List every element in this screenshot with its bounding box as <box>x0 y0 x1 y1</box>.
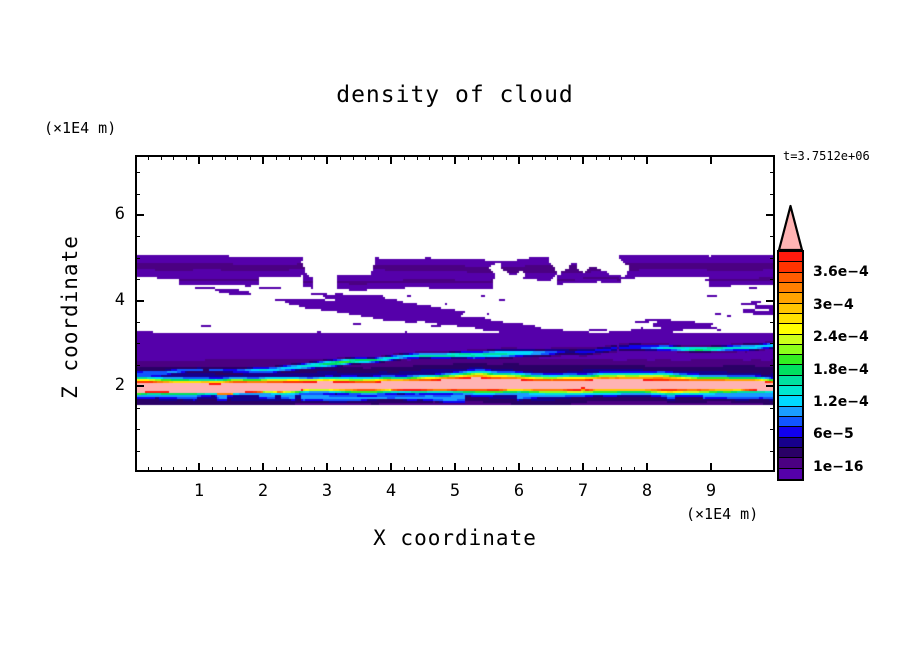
axis-tick <box>225 155 226 160</box>
page-title: density of cloud <box>135 82 775 108</box>
axis-tick <box>289 155 290 160</box>
axis-tick <box>770 365 775 366</box>
colorbar-band <box>779 324 802 334</box>
x-axis-unit-label: (×1E4 m) <box>686 505 758 523</box>
axis-tick <box>262 155 264 164</box>
axis-tick <box>161 155 162 160</box>
axis-tick <box>506 155 507 160</box>
colorbar-band <box>779 469 802 479</box>
axis-tick <box>710 463 712 472</box>
axis-tick <box>545 467 546 472</box>
plot-area <box>135 155 775 472</box>
axis-tick <box>314 467 315 472</box>
axis-tick <box>468 155 469 160</box>
axis-tick <box>135 279 140 280</box>
colorbar-band <box>779 335 802 345</box>
axis-tick <box>173 467 174 472</box>
axis-tick <box>766 300 775 302</box>
axis-tick <box>557 467 558 472</box>
axis-tick <box>770 343 775 344</box>
axis-tick <box>532 155 533 160</box>
x-tick-label: 4 <box>376 481 406 501</box>
axis-tick <box>301 155 302 160</box>
x-tick-label: 6 <box>504 481 534 501</box>
axis-tick <box>390 155 392 164</box>
axis-tick <box>582 463 584 472</box>
axis-tick <box>770 429 775 430</box>
colorbar-band <box>779 273 802 283</box>
axis-tick <box>225 467 226 472</box>
axis-tick <box>340 155 341 160</box>
x-tick-label: 2 <box>248 481 278 501</box>
colorbar-band <box>779 355 802 365</box>
colorbar-band <box>779 252 802 262</box>
colorbar-label: 3.6e−4 <box>813 264 869 280</box>
axis-tick <box>198 463 200 472</box>
y-tick-label: 2 <box>95 375 125 395</box>
colorbar-band <box>779 262 802 272</box>
axis-tick <box>198 155 200 164</box>
colorbar-label: 1.8e−4 <box>813 362 869 378</box>
colorbar-band <box>779 386 802 396</box>
y-axis-unit-label: (×1E4 m) <box>44 119 116 137</box>
x-tick-label: 9 <box>696 481 726 501</box>
colorbar-band <box>779 283 802 293</box>
axis-tick <box>135 451 140 452</box>
axis-tick <box>135 236 140 237</box>
axis-tick <box>532 467 533 472</box>
axis-tick <box>770 258 775 259</box>
axis-tick <box>353 467 354 472</box>
colorbar-band <box>779 448 802 458</box>
colorbar-label: 3e−4 <box>813 297 854 313</box>
colorbar-label: 6e−5 <box>813 426 854 442</box>
axis-tick <box>314 155 315 160</box>
axis-tick <box>545 155 546 160</box>
x-axis-title: X coordinate <box>135 526 775 550</box>
axis-tick <box>135 385 144 387</box>
axis-tick <box>404 467 405 472</box>
axis-tick <box>766 385 775 387</box>
axis-tick <box>301 467 302 472</box>
colorbar-band <box>779 407 802 417</box>
axis-tick <box>468 467 469 472</box>
axis-tick <box>135 322 140 323</box>
axis-tick <box>429 467 430 472</box>
axis-tick <box>442 467 443 472</box>
axis-tick <box>135 343 140 344</box>
axis-tick <box>135 365 140 366</box>
axis-tick <box>596 467 597 472</box>
x-tick-label: 3 <box>312 481 342 501</box>
axis-tick <box>417 155 418 160</box>
axis-tick <box>454 155 456 164</box>
axis-tick <box>770 194 775 195</box>
colorbar-band <box>779 293 802 303</box>
axis-tick <box>646 155 648 164</box>
axis-tick <box>378 155 379 160</box>
y-tick-label: 4 <box>95 290 125 310</box>
axis-tick <box>326 463 328 472</box>
axis-tick <box>429 155 430 160</box>
axis-tick <box>442 155 443 160</box>
axis-tick <box>148 155 149 160</box>
axis-tick <box>161 467 162 472</box>
axis-tick <box>186 467 187 472</box>
axis-tick <box>404 155 405 160</box>
colorbar-label: 1.2e−4 <box>813 394 869 410</box>
axis-tick <box>276 155 277 160</box>
colorbar-band <box>779 438 802 448</box>
colorbar-band <box>779 345 802 355</box>
y-axis-title: Z coordinate <box>58 227 82 407</box>
axis-tick <box>646 463 648 472</box>
colorbar-band <box>779 304 802 314</box>
colorbar-band <box>779 314 802 324</box>
axis-tick <box>493 467 494 472</box>
axis-tick <box>634 467 635 472</box>
axis-tick <box>582 155 584 164</box>
axis-tick <box>365 467 366 472</box>
axis-tick <box>557 155 558 160</box>
colorbar-band <box>779 417 802 427</box>
axis-tick <box>621 467 622 472</box>
colorbar-label: 1e−16 <box>813 459 863 475</box>
axis-tick <box>262 463 264 472</box>
axis-tick <box>237 155 238 160</box>
axis-tick <box>766 214 775 216</box>
colorbar-label: 2.4e−4 <box>813 329 869 345</box>
axis-tick <box>417 467 418 472</box>
axis-tick <box>518 155 520 164</box>
contour-field <box>137 157 773 470</box>
axis-tick <box>365 155 366 160</box>
axis-tick <box>570 155 571 160</box>
axis-tick <box>609 467 610 472</box>
axis-tick <box>237 467 238 472</box>
axis-tick <box>770 408 775 409</box>
axis-tick <box>173 155 174 160</box>
x-tick-label: 8 <box>632 481 662 501</box>
axis-tick <box>634 155 635 160</box>
axis-tick <box>518 463 520 472</box>
axis-tick <box>135 300 144 302</box>
colorbar-band <box>779 365 802 375</box>
axis-tick <box>621 155 622 160</box>
timestamp-annotation: t=3.7512e+06 <box>783 149 870 163</box>
axis-tick <box>250 467 251 472</box>
axis-tick <box>770 322 775 323</box>
axis-tick <box>135 429 140 430</box>
axis-tick <box>378 467 379 472</box>
x-tick-label: 5 <box>440 481 470 501</box>
colorbar-bands <box>777 250 804 481</box>
axis-tick <box>710 155 712 164</box>
axis-tick <box>212 467 213 472</box>
axis-tick <box>454 463 456 472</box>
x-tick-label: 1 <box>184 481 214 501</box>
axis-tick <box>609 155 610 160</box>
colorbar-over-arrow <box>777 204 804 252</box>
figure-canvas: density of cloud (×1E4 m) (×1E4 m) t=3.7… <box>0 0 904 654</box>
axis-tick <box>770 279 775 280</box>
colorbar-band <box>779 427 802 437</box>
axis-tick <box>212 155 213 160</box>
axis-tick <box>250 155 251 160</box>
axis-tick <box>289 467 290 472</box>
axis-tick <box>770 236 775 237</box>
axis-tick <box>135 172 140 173</box>
axis-tick <box>135 194 140 195</box>
axis-tick <box>506 467 507 472</box>
axis-tick <box>326 155 328 164</box>
colorbar-band <box>779 458 802 468</box>
colorbar-band <box>779 376 802 386</box>
axis-tick <box>390 463 392 472</box>
axis-tick <box>186 155 187 160</box>
axis-tick <box>148 467 149 472</box>
axis-tick <box>570 467 571 472</box>
axis-tick <box>481 155 482 160</box>
axis-tick <box>340 467 341 472</box>
axis-tick <box>596 155 597 160</box>
axis-tick <box>135 408 140 409</box>
axis-tick <box>353 155 354 160</box>
axis-tick <box>493 155 494 160</box>
axis-tick <box>276 467 277 472</box>
colorbar-band <box>779 396 802 406</box>
y-tick-label: 6 <box>95 204 125 224</box>
axis-tick <box>135 258 140 259</box>
x-tick-label: 7 <box>568 481 598 501</box>
axis-tick <box>770 451 775 452</box>
axis-tick <box>770 172 775 173</box>
axis-tick <box>135 214 144 216</box>
axis-tick <box>481 467 482 472</box>
